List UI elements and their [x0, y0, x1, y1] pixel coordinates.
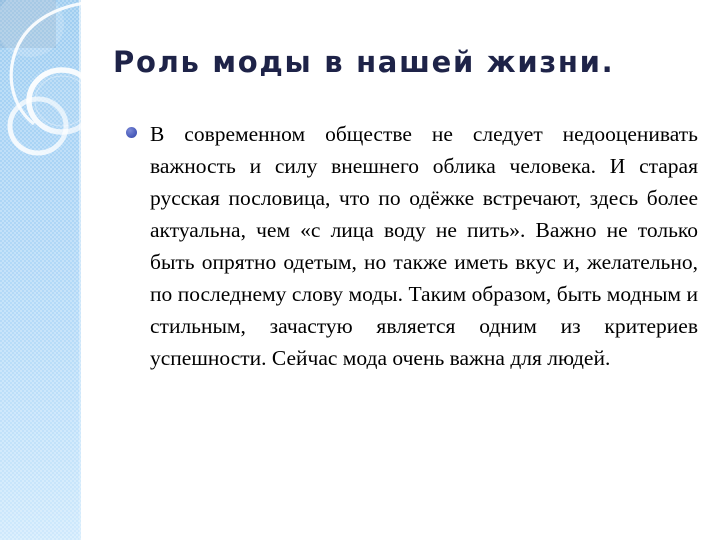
sidebar-ring-large: [29, 70, 81, 132]
sidebar-ring-small: [10, 99, 66, 153]
bullet-item: В современном обществе не следует недооц…: [126, 118, 698, 374]
slide-body: В современном обществе не следует недооц…: [126, 118, 698, 374]
sidebar-ring-large-fill: [29, 70, 81, 132]
decorative-sidebar: [0, 0, 81, 540]
bullet-dot-icon: [126, 127, 137, 138]
sidebar-corner-block: [0, 0, 56, 48]
sidebar-ring-highlight: [35, 76, 81, 126]
sidebar-rings-decoration: [0, 0, 81, 540]
slide-canvas: Роль моды в нашей жизни. В современном о…: [0, 0, 720, 540]
sidebar-arc-stroke: [11, 2, 81, 124]
sidebar-edge-highlight: [79, 0, 81, 540]
bullet-marker: [126, 118, 150, 138]
sidebar-texture: [0, 0, 81, 540]
bullet-paragraph: В современном обществе не следует недооц…: [150, 118, 698, 374]
sidebar-soft-disc: [0, 0, 64, 57]
slide-title: Роль моды в нашей жизни.: [113, 44, 693, 80]
